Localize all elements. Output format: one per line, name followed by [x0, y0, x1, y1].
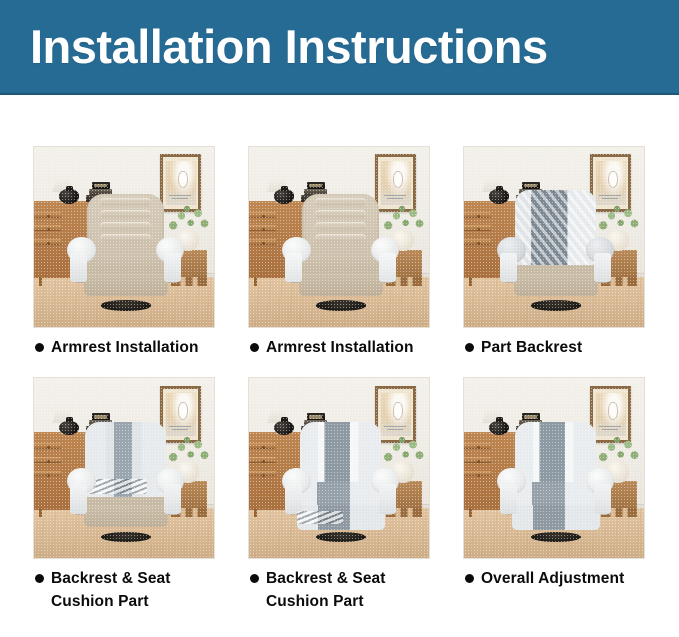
step-card-3: Part Backrest [463, 146, 645, 359]
step-photo-1 [33, 146, 215, 328]
bullet-icon [35, 574, 44, 583]
step-label-3: Part Backrest [481, 337, 582, 359]
header-banner: Installation Instructions [0, 0, 679, 95]
step-card-5: Backrest & Seat Cushion Part [248, 377, 430, 613]
step-label-5: Backrest & Seat Cushion Part [266, 568, 430, 613]
step-label-1: Armrest Installation [51, 337, 199, 359]
step-card-6: Overall Adjustment [463, 377, 645, 613]
bullet-icon [35, 343, 44, 352]
step-photo-4 [33, 377, 215, 559]
step-label-4: Backrest & Seat Cushion Part [51, 568, 215, 613]
backrest-cover [515, 190, 596, 265]
step-caption-4: Backrest & Seat Cushion Part [33, 568, 215, 613]
bullet-icon [250, 343, 259, 352]
page-title: Installation Instructions [0, 23, 548, 70]
step-card-1: Armrest Installation [33, 146, 215, 359]
recliner-chair [504, 194, 608, 307]
bullet-icon [465, 574, 474, 583]
step-card-2: Armrest Installation [248, 146, 430, 359]
bullet-icon [250, 574, 259, 583]
recliner-chair [289, 425, 393, 538]
step-photo-6 [463, 377, 645, 559]
step-caption-3: Part Backrest [463, 337, 645, 359]
step-label-2: Armrest Installation [266, 337, 414, 359]
step-photo-2 [248, 146, 430, 328]
recliner-chair [289, 194, 393, 307]
step-photo-5 [248, 377, 430, 559]
step-caption-6: Overall Adjustment [463, 568, 645, 590]
installation-instructions-page: Installation Instructions [0, 0, 679, 637]
step-caption-1: Armrest Installation [33, 337, 215, 359]
recliner-chair [74, 194, 178, 307]
step-caption-5: Backrest & Seat Cushion Part [248, 568, 430, 613]
step-photo-3 [463, 146, 645, 328]
steps-grid: Armrest Installation [33, 146, 651, 613]
bullet-icon [465, 343, 474, 352]
step-label-6: Overall Adjustment [481, 568, 624, 590]
swivel-base [101, 300, 151, 310]
step-caption-2: Armrest Installation [248, 337, 430, 359]
step-card-4: Backrest & Seat Cushion Part [33, 377, 215, 613]
recliner-chair [504, 425, 608, 538]
recliner-chair [74, 425, 178, 538]
